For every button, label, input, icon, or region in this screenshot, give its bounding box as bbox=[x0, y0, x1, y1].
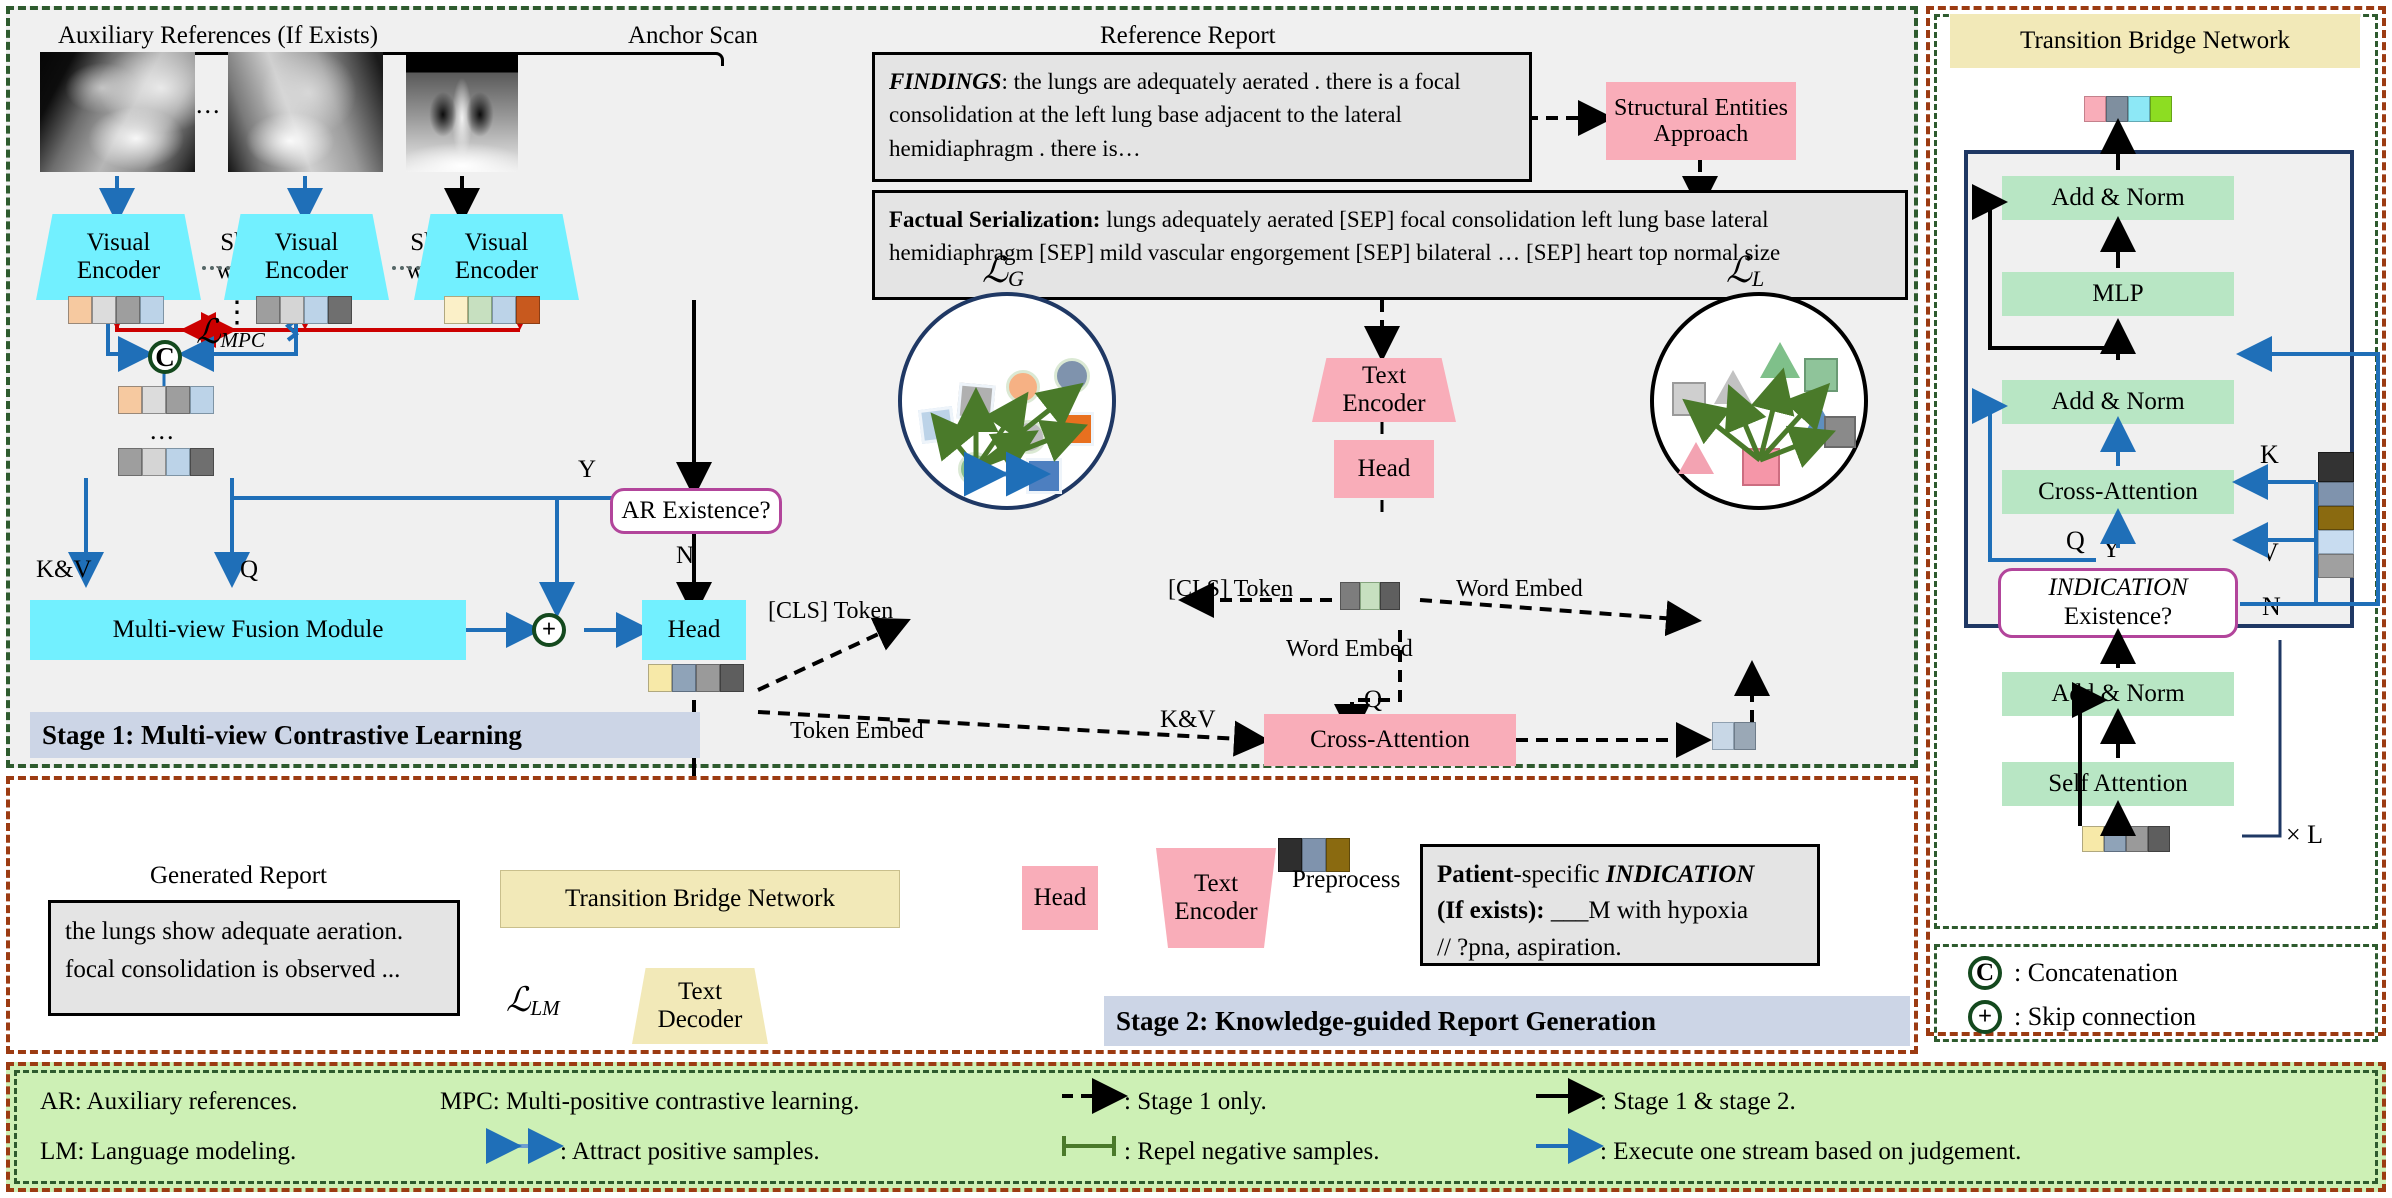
preprocess-label: Preprocess bbox=[1292, 866, 1400, 894]
indication-italic-label: INDICATION bbox=[1606, 861, 1755, 888]
kv-label-1: K&V bbox=[36, 556, 92, 584]
kv-label-2: K&V bbox=[1160, 706, 1216, 734]
tbn-add-norm-2: Add & Norm bbox=[2002, 380, 2234, 424]
tbn-add-norm-1: Add & Norm bbox=[2002, 176, 2234, 220]
factual-serialization-label: Factual Serialization: bbox=[889, 207, 1100, 232]
loss-mpc-symbol: ℒ bbox=[196, 312, 221, 352]
indication-line3: // ?pna, aspiration. bbox=[1437, 934, 1622, 961]
word-embed-label-1: Word Embed bbox=[1456, 576, 1583, 603]
token-cubes-2 bbox=[256, 296, 352, 324]
loss-mpc-subscript: MPC bbox=[221, 328, 265, 352]
concat-cubes-ellipsis: ... bbox=[150, 416, 176, 446]
tbn-v-label: V bbox=[2260, 538, 2279, 568]
token-embed-label: Token Embed bbox=[790, 718, 924, 745]
tbn-k-label: K bbox=[2260, 440, 2279, 470]
legend-item-judgement: : Execute one stream based on judgement. bbox=[1600, 1138, 2021, 1166]
global-contrast-circle bbox=[898, 292, 1116, 510]
loss-lm: ℒLM bbox=[506, 980, 560, 1021]
tbn-branch-y-label: Y bbox=[2102, 534, 2121, 564]
legend-skip-icon: + bbox=[1968, 1000, 2002, 1034]
text-decoder: Text Decoder bbox=[632, 968, 768, 1044]
cross-attention-output-cubes bbox=[1712, 722, 1756, 750]
legend-item-stage1-only: : Stage 1 only. bbox=[1124, 1088, 1267, 1116]
visual-encoder-3: Visual Encoder bbox=[414, 214, 579, 300]
ar-branch-y-label: Y bbox=[578, 456, 596, 484]
loss-lm-symbol: ℒ bbox=[506, 980, 531, 1020]
tbn-indication-existence: Existence? bbox=[2064, 603, 2172, 632]
visual-encoder-2: Visual Encoder bbox=[224, 214, 389, 300]
stage1-banner: Stage 1: Multi-view Contrastive Learning bbox=[30, 712, 700, 758]
findings-label: FINDINGS bbox=[889, 69, 1001, 94]
loss-mpc: ℒMPC bbox=[196, 312, 265, 353]
tbn-mlp: MLP bbox=[2002, 272, 2234, 316]
anchor-xray bbox=[406, 52, 518, 172]
indication-patient-label: Patient bbox=[1437, 861, 1513, 888]
reference-report-title: Reference Report bbox=[1100, 22, 1276, 50]
tbn-self-attention: Self Attention bbox=[2002, 762, 2234, 806]
loss-g-subscript: G bbox=[1008, 266, 1024, 291]
tbn-q-label: Q bbox=[2066, 526, 2085, 556]
loss-l-symbol: ℒ bbox=[1726, 250, 1752, 291]
tbn-cross-attention: Cross-Attention bbox=[2002, 470, 2234, 514]
cls-token-label-left: [CLS] Token bbox=[768, 598, 893, 625]
indication-rest-label: -specific bbox=[1513, 861, 1605, 888]
indication-box: Patient-specific INDICATION (If exists):… bbox=[1420, 844, 1820, 966]
token-cubes-3 bbox=[444, 296, 540, 324]
tbn-indication-italic: INDICATION bbox=[2048, 574, 2187, 603]
loss-g-symbol: ℒ bbox=[982, 250, 1008, 291]
indication-line2-rest: ___M with hypoxia bbox=[1545, 897, 1748, 924]
visual-encoder-1: Visual Encoder bbox=[36, 214, 201, 300]
visual-encoder-1-label: Visual Encoder bbox=[77, 229, 160, 285]
findings-box: FINDINGS: the lungs are adequately aerat… bbox=[872, 52, 1532, 182]
legend-item-stage1-2: : Stage 1 & stage 2. bbox=[1600, 1088, 1796, 1116]
head-stage1: Head bbox=[642, 600, 746, 660]
legend-concat-icon: C bbox=[1968, 956, 2002, 990]
word-embed-label-2: Word Embed bbox=[1286, 636, 1413, 663]
loss-l-subscript: L bbox=[1752, 266, 1764, 291]
aux-xray-2 bbox=[228, 52, 383, 172]
visual-encoder-3-label: Visual Encoder bbox=[455, 229, 538, 285]
loss-g: ℒG bbox=[982, 250, 1024, 292]
tbn-output-cubes bbox=[2084, 96, 2172, 122]
loss-lm-subscript: LM bbox=[531, 996, 560, 1020]
text-encoder-stage1: Text Encoder bbox=[1312, 358, 1456, 422]
local-contrast-circle bbox=[1650, 292, 1868, 510]
cross-attention-stage1: Cross-Attention bbox=[1264, 714, 1516, 766]
concat-icon: C bbox=[148, 340, 182, 374]
aux-references-title: Auxiliary References (If Exists) bbox=[58, 22, 378, 50]
token-cubes-1 bbox=[68, 296, 164, 324]
skip-connection-icon: + bbox=[532, 613, 566, 647]
ar-existence-decision: AR Existence? bbox=[610, 488, 782, 534]
ar-branch-n-label: N bbox=[676, 542, 694, 570]
aux-xray-1 bbox=[40, 52, 195, 172]
tbn-kv-source-cubes bbox=[2318, 452, 2354, 578]
structural-entities-approach: Structural Entities Approach bbox=[1606, 82, 1796, 160]
tbn-title: Transition Bridge Network bbox=[1950, 14, 2360, 68]
legend-item-attract: : Attract positive samples. bbox=[560, 1138, 820, 1166]
cls-token-label-right: [CLS] Token bbox=[1168, 576, 1293, 603]
legend-item-lm: LM: Language modeling. bbox=[40, 1138, 296, 1166]
legend-item-ar: AR: Auxiliary references. bbox=[40, 1088, 298, 1116]
legend-item-repel: : Repel negative samples. bbox=[1124, 1138, 1379, 1166]
aux-ellipsis: ... bbox=[196, 90, 222, 120]
indication-ifexists-label: (If exists): bbox=[1437, 897, 1545, 924]
text-encoder-stage2: Text Encoder bbox=[1156, 848, 1276, 948]
legend-item-mpc: MPC: Multi-positive contrastive learning… bbox=[440, 1088, 859, 1116]
tbn-input-cubes bbox=[2082, 826, 2170, 852]
loss-l: ℒL bbox=[1726, 250, 1764, 292]
legend-skip-label: : Skip connection bbox=[2014, 1002, 2196, 1032]
text-head-stage1: Head bbox=[1334, 440, 1434, 498]
head-output-cubes bbox=[648, 664, 744, 692]
text-head-cubes bbox=[1340, 582, 1400, 610]
stage2-banner: Stage 2: Knowledge-guided Report Generat… bbox=[1104, 996, 1910, 1046]
generated-report-box: the lungs show adequate aeration. focal … bbox=[48, 900, 460, 1016]
transition-bridge-network-box: Transition Bridge Network bbox=[500, 870, 900, 928]
legend-concat-label: : Concatenation bbox=[2014, 958, 2178, 988]
tbn-indication-decision: INDICATION Existence? bbox=[1998, 568, 2238, 638]
tbn-add-norm-3: Add & Norm bbox=[2002, 672, 2234, 716]
tbn-times-l-label: × L bbox=[2286, 820, 2323, 850]
multi-view-fusion-module: Multi-view Fusion Module bbox=[30, 600, 466, 660]
anchor-scan-title: Anchor Scan bbox=[628, 22, 758, 50]
generated-report-title: Generated Report bbox=[150, 862, 327, 890]
q-label-2: Q bbox=[1364, 686, 1382, 714]
concat-output-cubes-2 bbox=[118, 448, 214, 476]
concat-output-cubes-1 bbox=[118, 386, 214, 414]
visual-encoder-2-label: Visual Encoder bbox=[265, 229, 348, 285]
head-stage2: Head bbox=[1022, 866, 1098, 930]
tbn-branch-n-label: N bbox=[2262, 592, 2281, 622]
q-label-1: Q bbox=[240, 556, 258, 584]
